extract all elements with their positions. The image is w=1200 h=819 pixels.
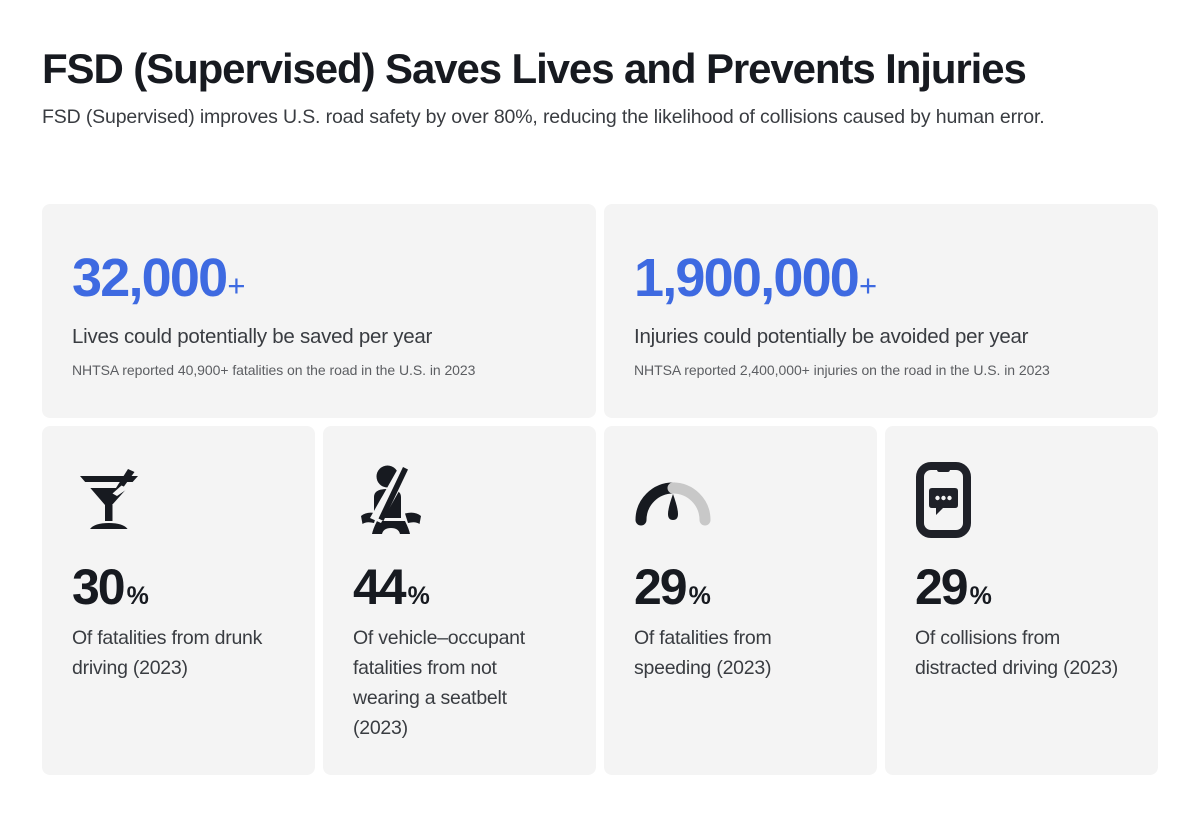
highlight-note: NHTSA reported 2,400,000+ injuries on th… [634, 361, 1128, 380]
stat-value-unit: % [408, 582, 430, 611]
stat-card-drunk-driving: 30 % Of fatalities from drunk driving (2… [42, 426, 315, 775]
seatbelt-icon [353, 462, 566, 538]
highlight-card-lives-saved: 32,000 + Lives could potentially be save… [42, 204, 596, 418]
stat-label: Of fatalities from drunk driving (2023) [72, 623, 285, 683]
stat-value: 29 % [915, 560, 1128, 614]
stat-value: 44 % [353, 560, 566, 614]
highlight-note: NHTSA reported 40,900+ fatalities on the… [72, 361, 566, 380]
highlight-value: 32,000 + [72, 248, 566, 316]
stat-label: Of fatalities from speeding (2023) [634, 623, 847, 683]
highlight-value-number: 32,000 [72, 248, 226, 308]
infographic-page: FSD (Supervised) Saves Lives and Prevent… [0, 0, 1200, 819]
phone-message-icon [915, 462, 1128, 538]
highlight-label: Injuries could potentially be avoided pe… [634, 323, 1128, 350]
stat-card-speeding: 29 % Of fatalities from speeding (2023) [604, 426, 877, 775]
highlight-value-number: 1,900,000 [634, 248, 858, 308]
stat-value-unit: % [127, 582, 149, 611]
highlight-label: Lives could potentially be saved per yea… [72, 323, 566, 350]
page-title: FSD (Supervised) Saves Lives and Prevent… [42, 44, 1152, 94]
cocktail-glass-icon [72, 462, 285, 538]
highlight-card-row: 32,000 + Lives could potentially be save… [42, 204, 1158, 418]
page-header: FSD (Supervised) Saves Lives and Prevent… [42, 44, 1152, 132]
stat-card-row: 30 % Of fatalities from drunk driving (2… [42, 426, 1158, 775]
stat-card-seatbelt: 44 % Of vehicle–occupant fatalities from… [323, 426, 596, 775]
stat-value-number: 30 [72, 560, 124, 614]
stat-value-number: 44 [353, 560, 405, 614]
stat-card-distracted-driving: 29 % Of collisions from distracted drivi… [885, 426, 1158, 775]
stat-value-unit: % [970, 582, 992, 611]
stat-value-unit: % [689, 582, 711, 611]
speedometer-icon [634, 462, 847, 538]
highlight-value-suffix: + [859, 256, 877, 316]
stat-value-number: 29 [634, 560, 686, 614]
highlight-value: 1,900,000 + [634, 248, 1128, 316]
stat-value: 29 % [634, 560, 847, 614]
highlight-value-suffix: + [227, 256, 245, 316]
stat-label: Of vehicle–occupant fatalities from not … [353, 623, 566, 743]
highlight-card-injuries-avoided: 1,900,000 + Injuries could potentially b… [604, 204, 1158, 418]
stat-label: Of collisions from distracted driving (2… [915, 623, 1128, 683]
stat-value: 30 % [72, 560, 285, 614]
stat-value-number: 29 [915, 560, 967, 614]
page-subtitle: FSD (Supervised) improves U.S. road safe… [42, 103, 1147, 132]
